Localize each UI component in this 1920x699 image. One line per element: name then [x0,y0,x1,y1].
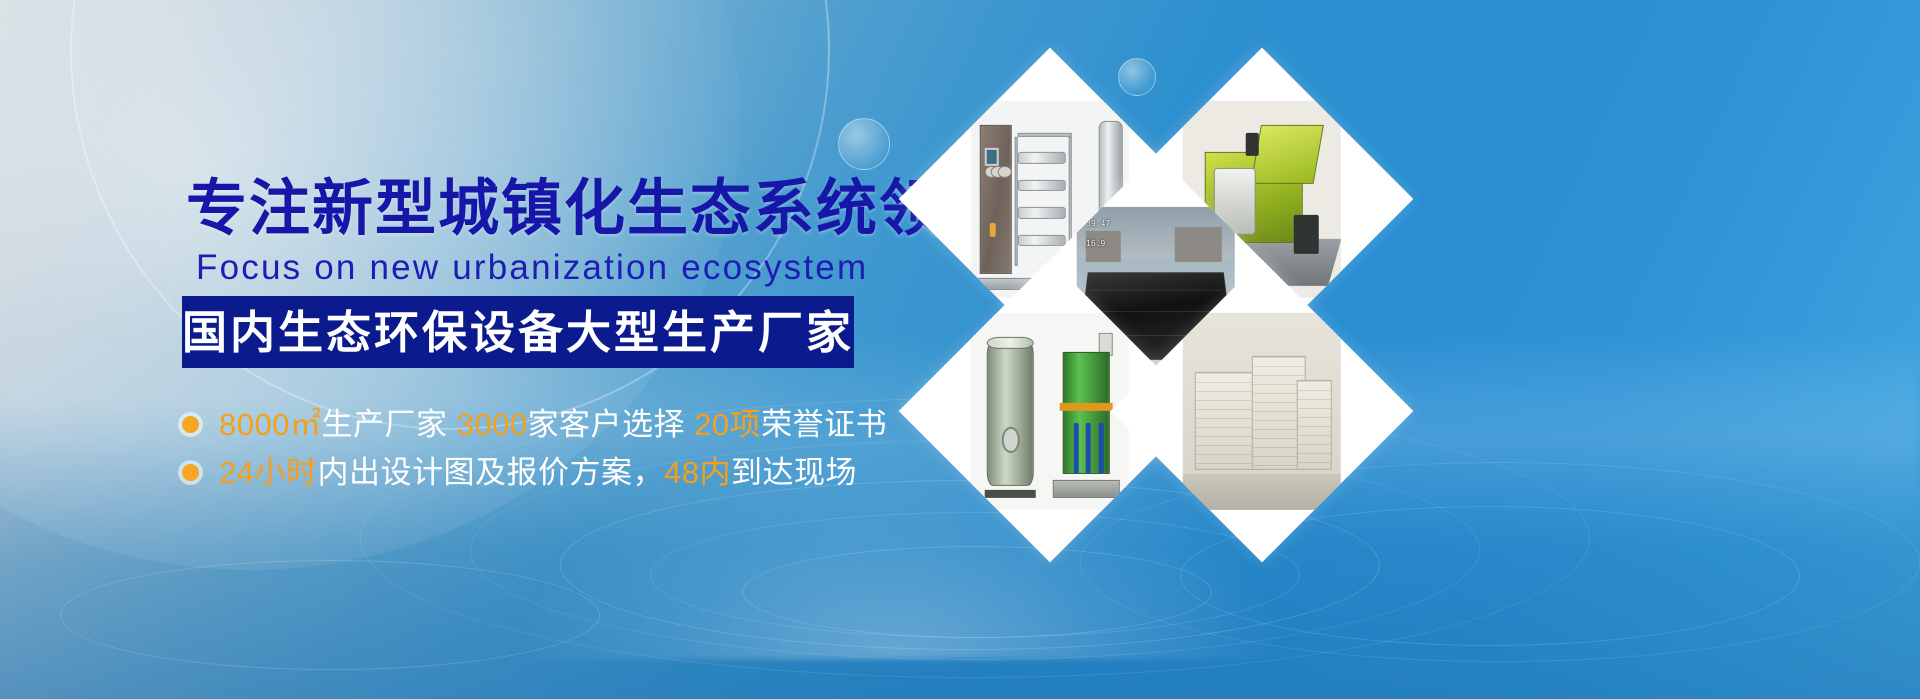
feature-text-1: 8000㎡生产厂家 3000家客户选择 20项荣誉证书 [219,409,887,440]
feature-text-2: 24小时内出设计图及报价方案，48内到达现场 [219,457,857,488]
copy-block: 专注新型城镇化生态系统领域 Focus on new urbanization … [0,0,920,699]
page-subtitle: Focus on new urbanization ecosystem [196,248,868,288]
product-gallery: 39.47 16.9 [905,0,1920,699]
list-item: 8000㎡生产厂家 3000家客户选择 20项荣誉证书 [182,400,887,448]
page-title: 专注新型城镇化生态系统领域 [186,178,1005,239]
bullet-dot-icon [182,416,199,433]
tagline-ribbon: 国内生态环保设备大型生产厂家 [182,296,854,368]
bullet-dot-icon [182,464,199,481]
photo-pump-station [971,313,1129,509]
tagline-text: 国内生态环保设备大型生产厂家 [182,310,854,355]
photo-blocks [1183,313,1341,509]
list-item: 24小时内出设计图及报价方案，48内到达现场 [182,448,887,496]
hero-banner: 专注新型城镇化生态系统领域 Focus on new urbanization … [0,0,1920,699]
feature-list: 8000㎡生产厂家 3000家客户选择 20项荣誉证书 24小时内出设计图及报价… [182,400,887,496]
